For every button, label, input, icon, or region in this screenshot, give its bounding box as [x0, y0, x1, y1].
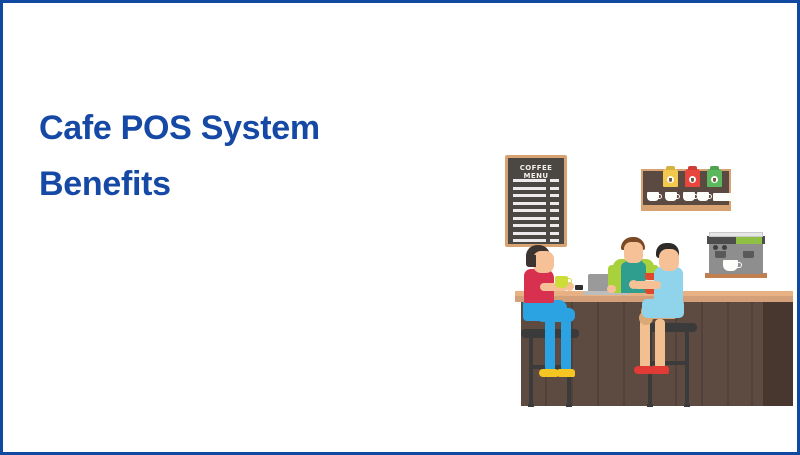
espresso-knob[interactable] — [722, 245, 727, 250]
shelf-cup — [683, 192, 695, 201]
espresso-cup — [723, 260, 738, 271]
shelf-cup — [647, 192, 659, 201]
left-customer-sideburn — [526, 255, 536, 267]
cafe-illustration: COFFEE MENU — [493, 143, 793, 423]
espresso-machine-panel — [736, 237, 762, 244]
left-customer-hip — [523, 300, 567, 321]
menu-row — [513, 193, 559, 199]
menu-row — [513, 216, 559, 222]
espresso-machine-rail — [709, 232, 763, 237]
stool-leg — [529, 337, 533, 405]
right-customer-shin — [655, 319, 665, 369]
left-customer-shoe — [556, 369, 575, 377]
menu-row — [513, 223, 559, 229]
coffee-menu-board: COFFEE MENU — [505, 155, 567, 247]
coffee-bag-red — [685, 169, 700, 187]
shelf-cup — [697, 192, 709, 201]
page-title: Cafe POS System Benefits — [39, 100, 469, 212]
shelf-cup — [665, 192, 677, 201]
espresso-group-head — [715, 251, 726, 258]
espresso-group-head — [743, 251, 754, 258]
menu-row — [513, 208, 559, 214]
menu-row — [513, 201, 559, 207]
right-customer-hand — [629, 280, 638, 289]
barista-hand — [607, 285, 616, 293]
stool-leg — [685, 331, 689, 405]
shelf-base — [641, 205, 731, 211]
right-customer-head — [659, 249, 679, 271]
menu-row — [513, 178, 559, 184]
menu-row — [513, 186, 559, 192]
espresso-knob[interactable] — [713, 245, 718, 250]
stool-foot — [566, 404, 572, 407]
slide-canvas: Cafe POS System Benefits COFFEE MENU — [0, 0, 800, 455]
menu-row — [513, 238, 559, 244]
left-customer-shin — [545, 319, 555, 372]
stool-foot — [647, 404, 653, 407]
coffee-bag-green — [707, 169, 722, 187]
stool-foot — [528, 404, 534, 407]
menu-board-items — [513, 178, 559, 246]
shelf-plate — [713, 193, 735, 201]
left-customer-phone — [575, 285, 583, 290]
right-customer-shoe — [650, 366, 669, 374]
menu-row — [513, 231, 559, 237]
page-title-line-2: Benefits — [39, 156, 469, 212]
barista-head — [624, 242, 643, 263]
coffee-bag-yellow — [663, 169, 678, 187]
stool-foot — [684, 404, 690, 407]
left-customer-mug — [555, 276, 568, 288]
menu-board-surface: COFFEE MENU — [508, 158, 564, 244]
right-customer-shin — [640, 319, 650, 369]
page-title-line-1: Cafe POS System — [39, 100, 469, 156]
left-customer-head — [533, 251, 554, 273]
left-customer-shin — [561, 319, 571, 372]
counter-side-panel — [763, 302, 793, 406]
